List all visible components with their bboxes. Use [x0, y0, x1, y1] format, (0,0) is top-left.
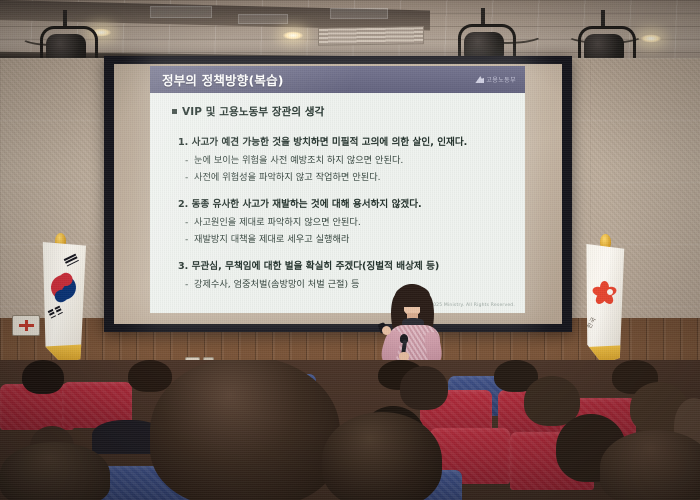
presenter-hand-left — [382, 326, 391, 335]
logo-swoosh-icon — [475, 76, 484, 83]
square-bullet-icon — [172, 109, 177, 114]
ceiling-panel — [150, 6, 212, 18]
ceiling-panel — [238, 14, 288, 24]
slide-heading: VIP 및 고용노동부 장관의 생각 — [172, 104, 511, 119]
screen-surface: 정부의 정책방향(복습) 고용노동부 VIP 및 고용노동부 장관의 생각 1.… — [114, 64, 562, 324]
trigram-gon — [48, 306, 64, 320]
ceiling-panel — [330, 8, 388, 19]
audience-head — [400, 366, 448, 410]
ministry-logo: 고용노동부 — [475, 75, 516, 84]
section-number-line: 2. 동종 유사한 사고가 재발하는 것에 대해 용서하지 않겠다. — [178, 196, 511, 210]
emergency-fire-alarm-plate — [12, 315, 40, 336]
audience-head — [128, 360, 172, 392]
taeguk-symbol — [47, 271, 81, 305]
slide-section: 1. 사고가 예견 가능한 것을 방치하면 미필적 고의에 의한 살인, 인재다… — [178, 134, 511, 183]
section-sub-line: -재발방지 대책을 제대로 세우고 실행해라 — [185, 231, 511, 245]
section-number-line: 1. 사고가 예견 가능한 것을 방치하면 미필적 고의에 의한 살인, 인재다… — [178, 134, 511, 148]
section-number-line: 3. 무관심, 무책임에 대한 벌을 확실히 주겠다(징벌적 배상제 등) — [178, 258, 511, 272]
slide-body: VIP 및 고용노동부 장관의 생각 1. 사고가 예견 가능한 것을 방치하면… — [150, 93, 525, 313]
slide-section: 2. 동종 유사한 사고가 재발하는 것에 대해 용서하지 않겠다. -사고원인… — [178, 196, 511, 245]
section-sub-line: -강제수사, 엄중처벌(솜방망이 처벌 근절) 등 — [185, 276, 511, 290]
organization-flag: 한국 — [582, 244, 626, 364]
section-sub-line: -사전에 위험성을 파악하지 않고 작업하면 안된다. — [185, 169, 511, 183]
auditorium-photo: 정부의 정책방향(복습) 고용노동부 VIP 및 고용노동부 장관의 생각 1.… — [0, 0, 700, 500]
logo-text: 고용노동부 — [486, 75, 516, 84]
section-sub-line: -사고원인을 제대로 파악하지 않으면 안된다. — [185, 214, 511, 228]
slide-title: 정부의 정책방향(복습) — [162, 70, 284, 89]
audience-head — [22, 360, 64, 394]
slide-title-bar: 정부의 정책방향(복습) 고용노동부 — [150, 66, 525, 93]
ceiling-air-vent — [318, 26, 424, 46]
seated-audience — [0, 360, 700, 500]
projection-screen: 정부의 정책방향(복습) 고용노동부 VIP 및 고용노동부 장관의 생각 1.… — [104, 56, 572, 332]
audience-head-foreground — [600, 430, 700, 500]
section-sub-line: -눈에 보이는 위험을 사전 예방조치 하지 않으면 안된다. — [185, 152, 511, 166]
trigram-geon — [64, 254, 80, 268]
audience-head-foreground — [0, 442, 110, 500]
presentation-slide: 정부의 정책방향(복습) 고용노동부 VIP 및 고용노동부 장관의 생각 1.… — [150, 66, 525, 313]
audience-head-foreground — [150, 360, 340, 500]
south-korea-flag — [40, 242, 86, 364]
ceiling-downlight-2 — [282, 31, 304, 40]
audience-head-foreground — [322, 412, 442, 500]
organization-emblem-icon — [591, 280, 617, 306]
slide-section: 3. 무관심, 무책임에 대한 벌을 확실히 주겠다(징벌적 배상제 등) -강… — [178, 258, 511, 290]
